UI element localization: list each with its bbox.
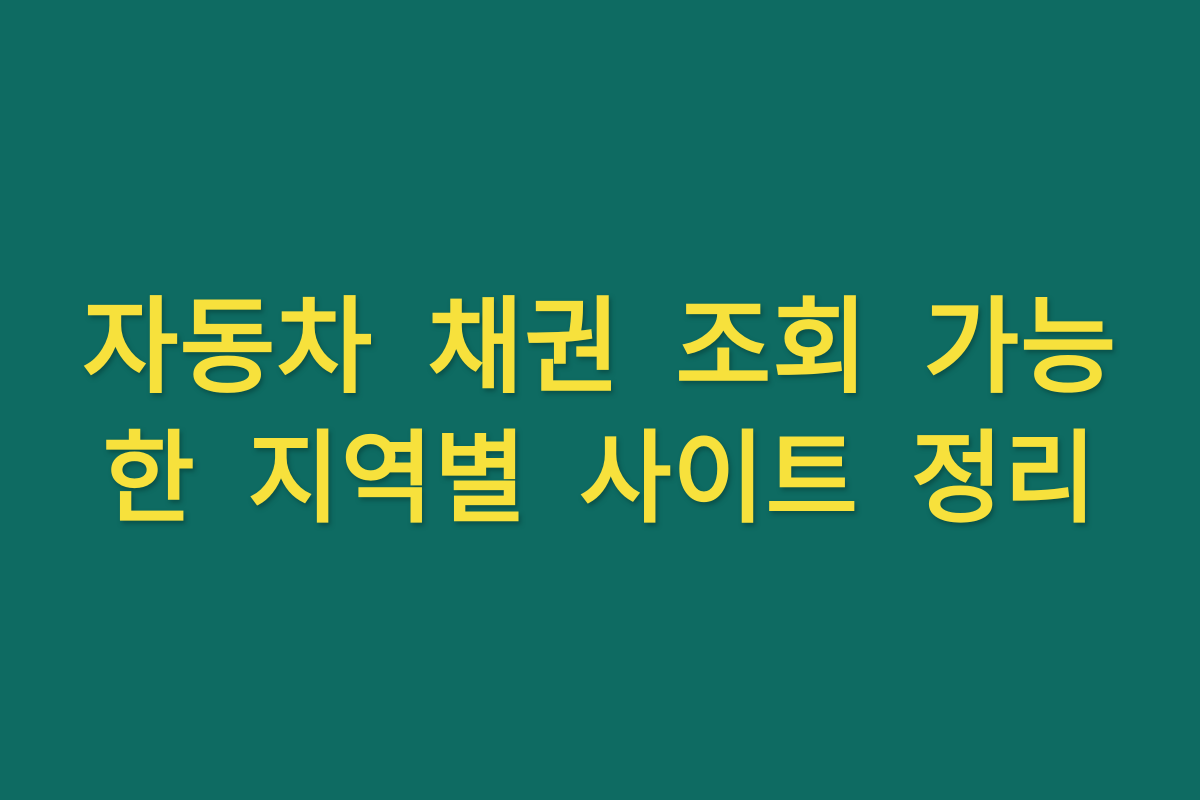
title-line-1: 자동차 채권 조회 가능 — [40, 281, 1160, 414]
page-title: 자동차 채권 조회 가능 한 지역별 사이트 정리 — [0, 281, 1200, 542]
banner-canvas: 자동차 채권 조회 가능 한 지역별 사이트 정리 — [0, 0, 1200, 800]
title-line-2: 한 지역별 사이트 정리 — [40, 415, 1160, 543]
